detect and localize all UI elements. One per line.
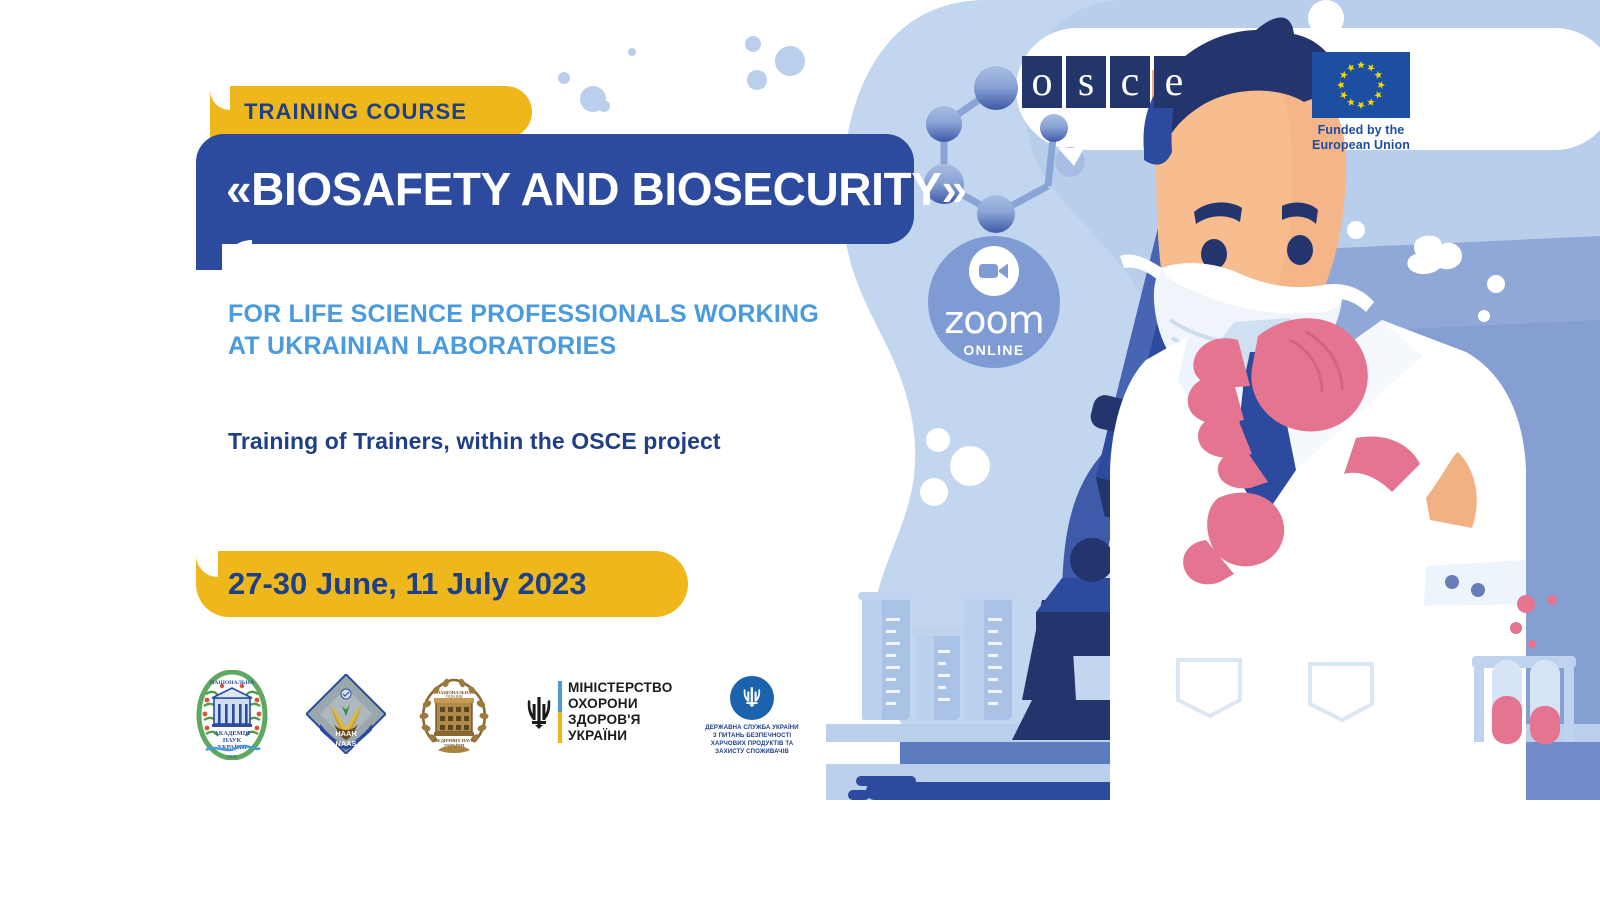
bubble-dot: [745, 36, 761, 52]
date-badge-notch: [196, 551, 218, 577]
moh-line-1: МІНІСТЕРСТВО: [568, 680, 673, 696]
dpss-line-4: ЗАХИСТУ СПОЖИВАЧІВ: [686, 748, 818, 756]
badge-notch: [210, 86, 230, 110]
training-course-badge: TRAINING COURSE: [210, 86, 532, 138]
bubble-dot: [747, 70, 767, 90]
eu-flag-icon: [1312, 52, 1410, 118]
logo-dpss: ДЕРЖАВНА СЛУЖБА УКРАЇНИ З ПИТАНЬ БЕЗПЕЧН…: [686, 674, 818, 756]
svg-text:НААН: НААН: [335, 729, 356, 738]
subtitle: FOR LIFE SCIENCE PROFESSIONALS WORKING A…: [228, 298, 828, 362]
osce-letter-s: s: [1066, 56, 1106, 108]
svg-text:NAAS: NAAS: [336, 739, 357, 748]
osce-letter-e: e: [1154, 56, 1194, 108]
tagline: Training of Trainers, within the OSCE pr…: [228, 428, 848, 455]
page-title: «BIOSAFETY AND BIOSECURITY»: [226, 134, 967, 244]
eu-funding-line-2: European Union: [1266, 138, 1456, 153]
eu-funding-caption: Funded by the European Union: [1266, 123, 1456, 153]
moh-line-3: ЗДОРОВ'Я: [568, 712, 673, 728]
banner-tail: [196, 244, 222, 270]
zoom-wordmark: zoom: [944, 298, 1043, 342]
title-banner: «BIOSAFETY AND BIOSECURITY»: [196, 134, 914, 244]
eu-funding-line-1: Funded by the: [1266, 123, 1456, 138]
eu-funding-logo: Funded by the European Union: [1266, 52, 1456, 153]
moh-line-4: УКРАЇНИ: [568, 728, 673, 744]
date-label: 27-30 June, 11 July 2023: [228, 551, 586, 617]
moh-line-2: ОХОРОНИ: [568, 696, 673, 712]
dpss-caption: ДЕРЖАВНА СЛУЖБА УКРАЇНИ З ПИТАНЬ БЕЗПЕЧН…: [686, 724, 818, 756]
svg-text:УКРАЇНИ: УКРАЇНИ: [445, 694, 462, 699]
video-camera-icon: [969, 246, 1019, 296]
bubble-dot: [628, 48, 636, 56]
logo-nasu: НАЦІОНАЛЬНА АКАДЕМІЯ НАУК УКРАЇНИ 1918: [196, 670, 268, 760]
dpss-line-3: ХАРЧОВИХ ПРОДУКТІВ ТА: [686, 740, 818, 748]
logo-naas: НААН NAAS: [306, 674, 386, 754]
subtitle-line-2: AT UKRAINIAN LABORATORIES: [228, 330, 828, 362]
osce-letter-c: c: [1110, 56, 1150, 108]
laboratory-illustration: o s c e: [826, 0, 1600, 800]
svg-text:НАЦІОНАЛЬНА: НАЦІОНАЛЬНА: [210, 680, 254, 686]
ministry-of-health-label: МІНІСТЕРСТВО ОХОРОНИ ЗДОРОВ'Я УКРАЇНИ: [568, 680, 673, 744]
svg-text:АКАДЕМІЯ: АКАДЕМІЯ: [214, 730, 250, 737]
osce-logo: o s c e: [1022, 56, 1194, 108]
svg-text:НАУК: НАУК: [223, 737, 242, 744]
date-badge: 27-30 June, 11 July 2023: [196, 551, 688, 617]
partner-logos: НАЦІОНАЛЬНА АКАДЕМІЯ НАУК УКРАЇНИ 1918: [196, 668, 816, 778]
dpss-line-1: ДЕРЖАВНА СЛУЖБА УКРАЇНИ: [686, 724, 818, 732]
ukraine-trident-icon: [526, 695, 552, 729]
flag-bars: [558, 681, 562, 743]
logo-ministry-of-health: МІНІСТЕРСТВО ОХОРОНИ ЗДОРОВ'Я УКРАЇНИ: [526, 680, 673, 744]
logo-namsu: НАЦІОНАЛЬНА УКРАЇНИ МЕДИЧНИХ НАУК УКРАЇН…: [414, 672, 494, 758]
dpss-line-2: З ПИТАНЬ БЕЗПЕЧНОСТІ: [686, 732, 818, 740]
banner-tail-cut: [222, 240, 252, 270]
bubble-dot: [775, 46, 805, 76]
zoom-online-badge[interactable]: zoom ONLINE: [928, 236, 1060, 368]
subtitle-line-1: FOR LIFE SCIENCE PROFESSIONALS WORKING: [228, 298, 828, 330]
training-course-label: TRAINING COURSE: [244, 86, 467, 138]
poster-canvas: o s c e: [0, 0, 1600, 900]
osce-letter-o: o: [1022, 56, 1062, 108]
bubble-dot: [598, 100, 610, 112]
zoom-mode-label: ONLINE: [963, 342, 1024, 358]
svg-text:1918: 1918: [227, 754, 237, 759]
bubble-dot: [558, 72, 570, 84]
